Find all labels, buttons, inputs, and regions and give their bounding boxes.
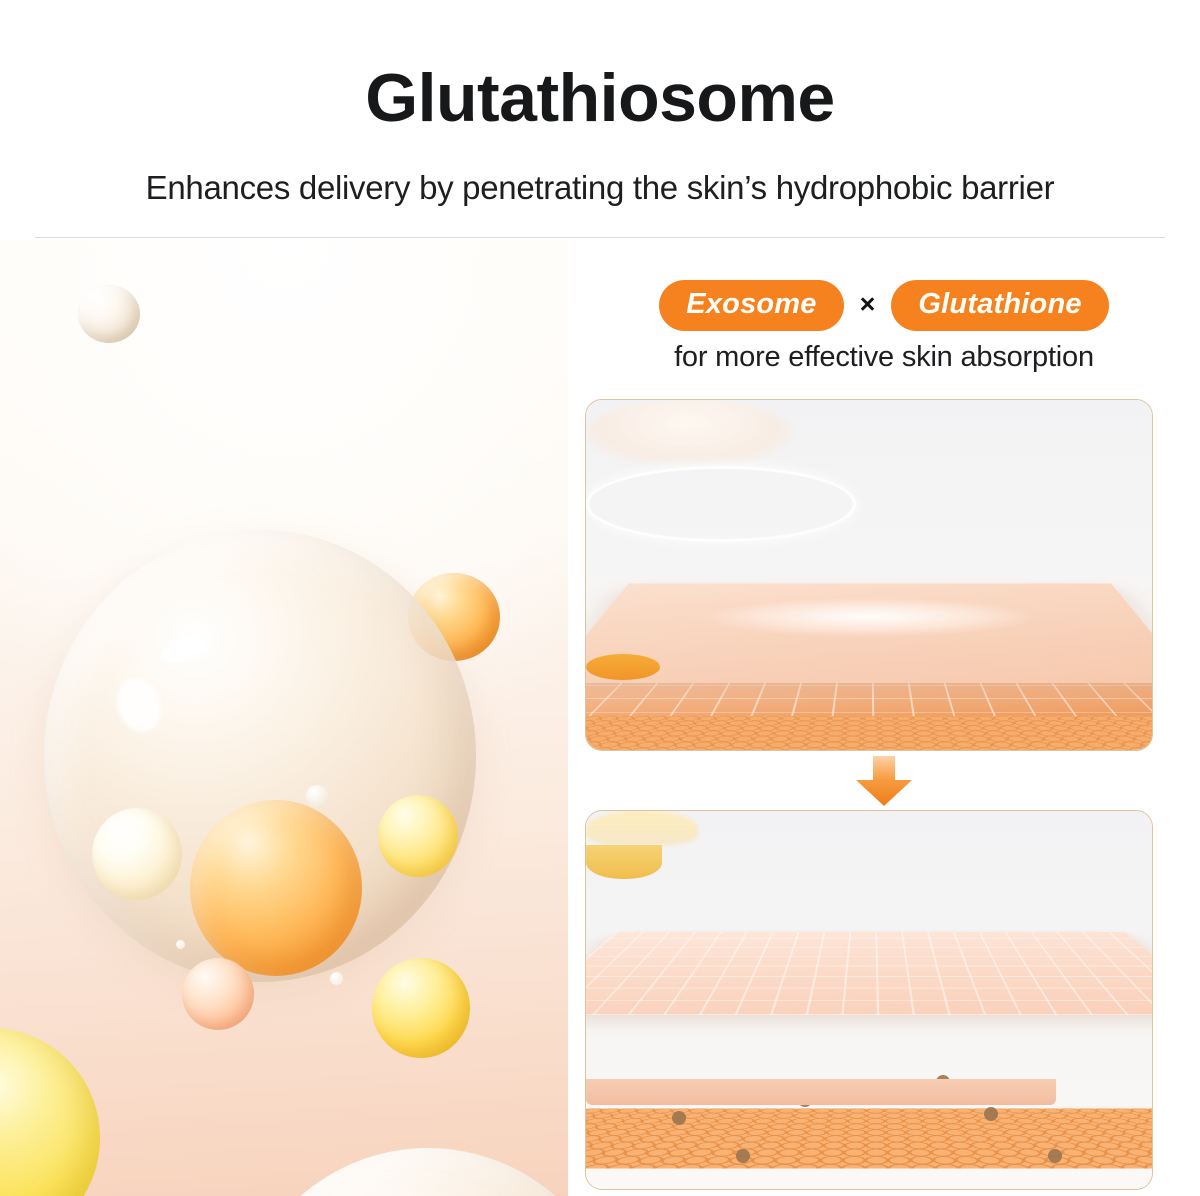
micro-bubble (330, 972, 343, 985)
barrier-dimple (586, 400, 792, 466)
pearl-bubble (78, 285, 140, 343)
sphere-packed-layer (585, 1108, 1153, 1168)
product-infographic: Glutathiosome Enhances delivery by penet… (0, 0, 1200, 1196)
peach-sphere (182, 958, 254, 1030)
header-divider (35, 237, 1165, 238)
page-subtitle: Enhances delivery by penetrating the ski… (0, 168, 1200, 208)
bubble-highlight (306, 785, 328, 807)
yellow-sphere-edge (0, 1028, 100, 1196)
dark-sphere (672, 1111, 686, 1125)
droplet-sheen (586, 811, 698, 845)
skin-barrier-sheet (585, 583, 1153, 683)
secondary-bubble (232, 1148, 568, 1196)
barrier-ripple-ring (586, 466, 856, 542)
dark-sphere (736, 1149, 750, 1163)
badge-glutathione: Glutathione (891, 280, 1108, 331)
yellow-sphere (372, 958, 470, 1058)
penetrated-droplet-base (586, 845, 662, 879)
dark-sphere (1048, 1149, 1062, 1163)
dark-sphere (984, 1107, 998, 1121)
barrier-panel (585, 399, 1153, 751)
header: Glutathiosome Enhances delivery by penet… (0, 0, 1200, 238)
absorbed-panel (585, 810, 1153, 1190)
skin-layer-edge (586, 1079, 1056, 1105)
micro-bubble (176, 940, 185, 949)
yellow-sphere (378, 795, 458, 877)
times-symbol-icon: × (860, 291, 876, 320)
orange-sphere-large (190, 800, 362, 976)
hero-bubble-image (0, 240, 568, 1196)
absorption-caption: for more effective skin absorption (568, 341, 1200, 374)
badge-exosome: Exosome (659, 280, 843, 331)
ingredient-badge-row: Exosome × Glutathione (568, 280, 1200, 331)
page-title: Glutathiosome (0, 64, 1200, 132)
right-column: Exosome × Glutathione for more effective… (568, 240, 1200, 1196)
droplet-pool (586, 654, 660, 680)
cream-sphere (92, 808, 182, 900)
down-arrow-icon (852, 756, 916, 806)
